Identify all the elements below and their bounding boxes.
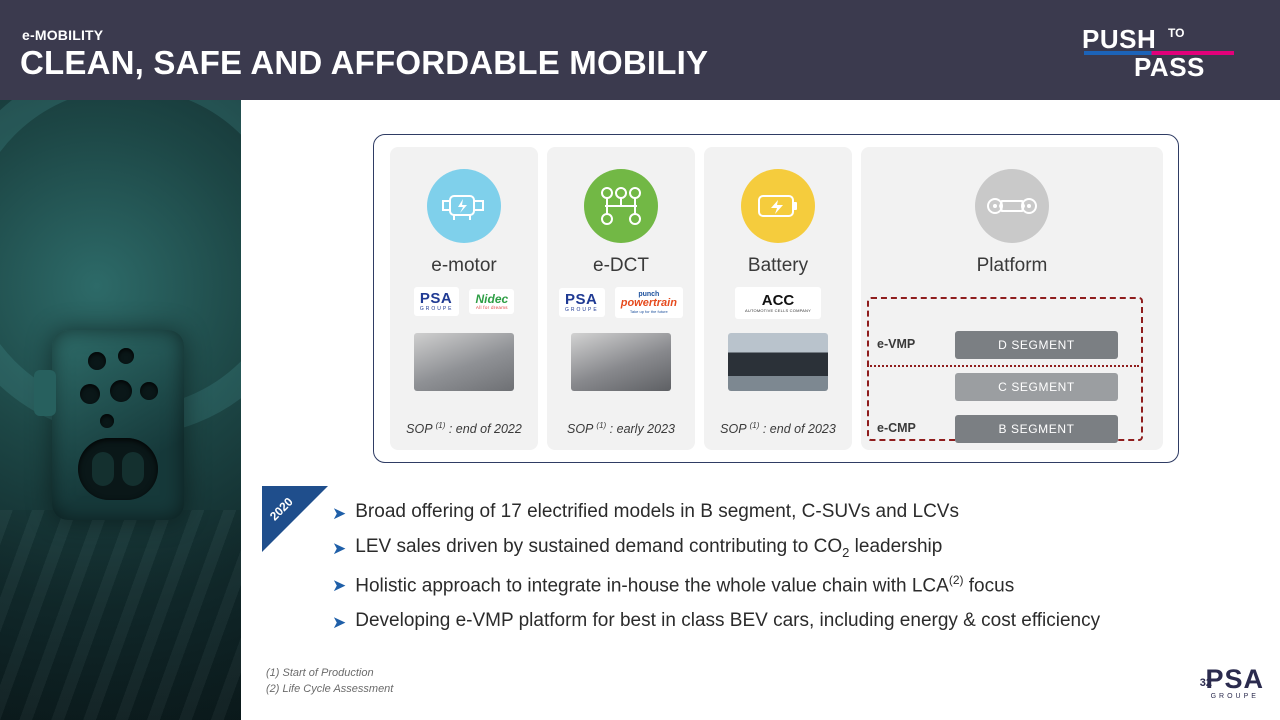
nidec-logo: Nidec All for dreams [469,289,514,314]
slide-header: e-MOBILITY CLEAN, SAFE AND AFFORDABLE MO… [0,0,1280,100]
segment-c: C SEGMENT [955,373,1118,401]
sop-value: : end of 2023 [763,422,836,436]
footnote-1: (1) Start of Production [266,666,393,682]
bullet-text-post: leadership [849,536,942,557]
logo-to-text: TO [1168,26,1184,40]
year-ribbon: 2020 [262,486,328,552]
sop-label: SOP (1) : end of 2022 [390,421,538,436]
acc-logo-sub: AUTOMOTIVE CELLS COMPANY [745,308,811,313]
sop-note: (1) [750,421,760,430]
card-title: Battery [704,255,852,277]
connector-pin [140,382,158,400]
e-motor-photo [414,333,514,391]
gearbox-icon [584,169,658,243]
bullet-list: ➤ Broad offering of 17 electrified model… [332,502,1212,646]
connector-tab [34,370,56,416]
bullet-text: Holistic approach to integrate in-house … [355,574,1014,597]
electric-motor-icon [427,169,501,243]
punch-powertrain-logo: punch powertrain Take up for the future [615,287,683,318]
page-title: CLEAN, SAFE AND AFFORDABLE MOBILIY [20,44,708,82]
bullet-text: LEV sales driven by sustained demand con… [355,537,942,560]
platform-label-evmp: e-VMP [877,337,915,351]
connector-pin [88,352,106,370]
sop-value: : end of 2022 [449,422,522,436]
sop-note: (1) [436,421,446,430]
chevron-right-icon: ➤ [332,577,346,594]
chevron-right-icon: ➤ [332,540,346,557]
segment-d: D SEGMENT [955,331,1118,359]
chevron-right-icon: ➤ [332,505,346,522]
psa-logo-text: PSA [565,292,599,307]
card-title: e-DCT [547,255,695,277]
psa-footer-text: PSA [1205,666,1264,693]
chevron-right-icon: ➤ [332,614,346,631]
technology-panel: e-motor PSA GROUPE Nidec All for dreams [373,134,1179,463]
acc-logo: ACC AUTOMOTIVE CELLS COMPANY [735,287,821,319]
year-ribbon-label: 2020 [267,495,296,524]
connector-pin [80,384,100,404]
connector-pin [110,380,132,402]
list-item: ➤ LEV sales driven by sustained demand c… [332,537,1212,560]
list-item: ➤ Developing e-VMP platform for best in … [332,611,1212,632]
bullet-text-sup: (2) [949,573,964,587]
push-to-pass-logo: PUSH TO PASS [1082,24,1242,80]
nidec-logo-text: Nidec [475,293,508,305]
card-battery: Battery ACC AUTOMOTIVE CELLS COMPANY SOP… [704,147,852,450]
technology-cards: e-motor PSA GROUPE Nidec All for dreams [390,147,1163,450]
bullet-text: Developing e-VMP platform for best in cl… [355,611,1100,632]
acc-logo-text: ACC [745,293,811,308]
partner-logos: ACC AUTOMOTIVE CELLS COMPANY [704,287,852,319]
sop-text: SOP [406,422,432,436]
vertical-divider [242,100,252,720]
battery-photo [728,333,828,391]
ccs-connector [52,330,184,520]
bullet-text-pre: Holistic approach to integrate in-house … [355,575,949,596]
platform-segment-divider [867,365,1139,367]
partner-logos: PSA GROUPE Nidec All for dreams [390,287,538,316]
header-eyebrow: e-MOBILITY [22,27,103,43]
logo-pass-text: PASS [1134,52,1205,83]
sop-value: : early 2023 [610,422,675,436]
partner-logos: PSA GROUPE punch powertrain Take up for … [547,287,695,318]
bullet-text-pre: LEV sales driven by sustained demand con… [355,536,842,557]
sop-text: SOP [720,422,746,436]
battery-bolt-icon [741,169,815,243]
chassis-platform-icon [975,169,1049,243]
sop-label: SOP (1) : end of 2023 [704,421,852,436]
photo-tire-tread [0,510,241,720]
charging-plug-photo [0,100,241,720]
connector-pin [100,414,114,428]
sop-note: (1) [596,421,606,430]
footnotes: (1) Start of Production (2) Life Cycle A… [266,666,393,698]
psa-logo-sub: GROUPE [420,306,454,312]
card-e-motor: e-motor PSA GROUPE Nidec All for dreams [390,147,538,450]
psa-groupe-logo: PSA GROUPE [1205,666,1264,700]
sop-label: SOP (1) : early 2023 [547,421,695,436]
bullet-text-post: focus [964,575,1015,596]
psa-logo: PSA GROUPE [559,288,605,317]
bullet-text: Broad offering of 17 electrified models … [355,502,959,523]
psa-logo-text: PSA [420,291,454,306]
connector-pin [118,348,134,364]
psa-footer-sub: GROUPE [1205,693,1264,700]
card-platform: Platform e-VMP e-CMP D SEGMENT C SEGMENT… [861,147,1163,450]
connector-dc-slot [78,438,158,500]
slide: e-MOBILITY CLEAN, SAFE AND AFFORDABLE MO… [0,0,1280,720]
card-e-dct: e-DCT PSA GROUPE punch powertrain Take u… [547,147,695,450]
list-item: ➤ Holistic approach to integrate in-hous… [332,574,1212,597]
segment-b: B SEGMENT [955,415,1118,443]
sop-text: SOP [567,422,593,436]
punch-logo-text2: powertrain [621,298,677,309]
psa-logo: PSA GROUPE [414,287,460,316]
nidec-logo-sub: All for dreams [475,305,508,310]
psa-logo-sub: GROUPE [565,307,599,313]
footnote-2: (2) Life Cycle Assessment [266,682,393,698]
punch-logo-sub: Take up for the future [621,309,677,314]
list-item: ➤ Broad offering of 17 electrified model… [332,502,1212,523]
e-dct-photo [571,333,671,391]
platform-label-ecmp: e-CMP [877,421,916,435]
card-title: Platform [861,255,1163,277]
card-title: e-motor [390,255,538,277]
